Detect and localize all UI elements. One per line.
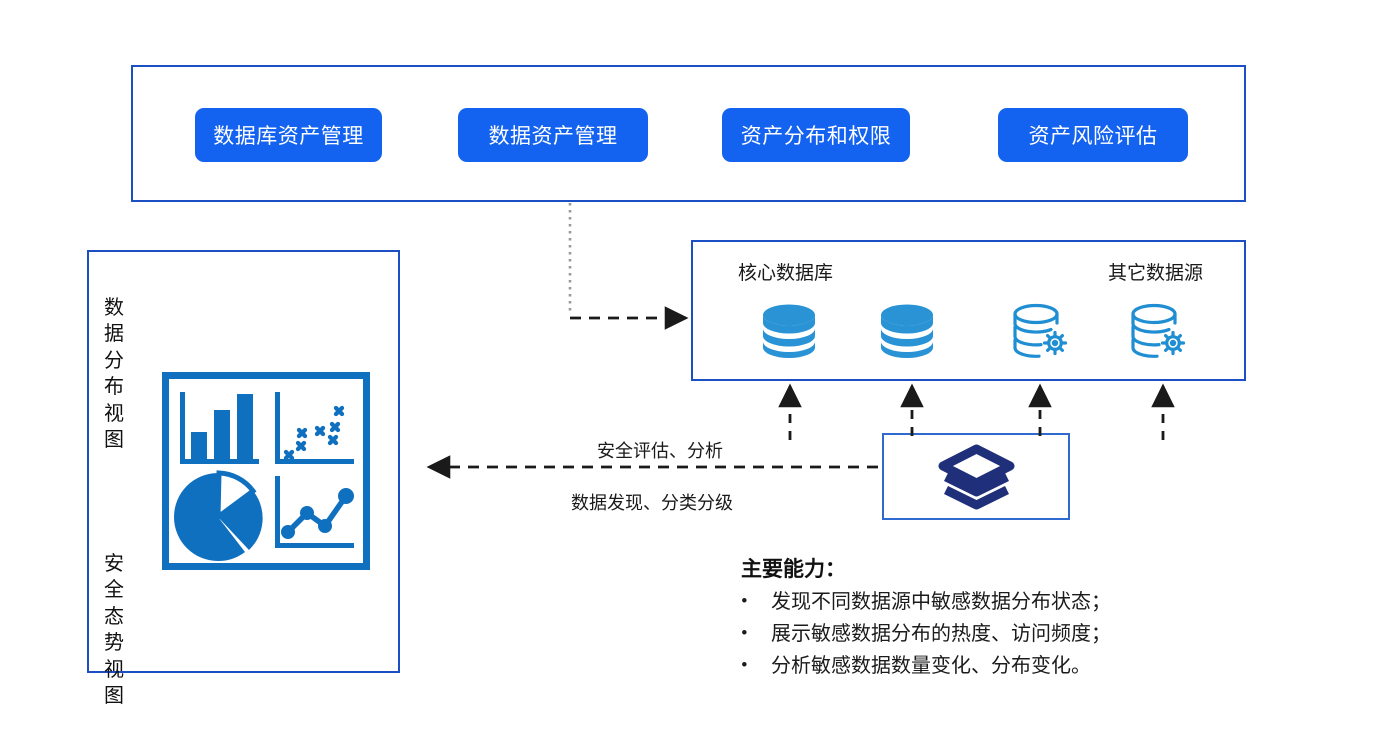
capabilities-title: 主要能力： [741,553,846,583]
datasource-label-core: 核心数据库 [738,258,833,285]
capability-text: 分析敏感数据数量变化、分布变化。 [771,656,1091,676]
module-button-label: 资产分布和权限 [741,120,892,150]
module-button-data-asset-management[interactable]: 数据资产管理 [458,108,648,162]
flow-label-security-assessment: 安全评估、分析 [597,437,723,463]
list-item: • 展示敏感数据分布的热度、访问频度； [741,624,1111,644]
module-button-database-asset-management[interactable]: 数据库资产管理 [195,108,382,162]
database-filled-icon [878,303,936,359]
bullet-icon: • [741,656,771,675]
module-button-asset-distribution-permission[interactable]: 资产分布和权限 [722,108,910,162]
view-label-security-posture: 安全态势视图 [101,551,127,709]
module-button-label: 数据资产管理 [489,120,618,150]
capabilities-list: • 发现不同数据源中敏感数据分布状态； • 展示敏感数据分布的热度、访问频度； … [741,592,1111,688]
layers-stack-icon [936,444,1017,512]
bullet-icon: • [741,624,771,643]
database-gear-icon [1010,302,1072,360]
module-button-asset-risk-assessment[interactable]: 资产风险评估 [998,108,1188,162]
list-item: • 分析敏感数据数量变化、分布变化。 [741,656,1111,676]
module-button-label: 数据库资产管理 [213,120,364,150]
capability-text: 展示敏感数据分布的热度、访问频度； [771,624,1111,644]
list-item: • 发现不同数据源中敏感数据分布状态； [741,592,1111,612]
module-button-label: 资产风险评估 [1029,120,1158,150]
flow-label-data-discovery: 数据发现、分类分级 [571,489,733,515]
bullet-icon: • [741,592,771,611]
database-filled-icon [760,303,818,359]
datasource-label-other: 其它数据源 [1108,258,1203,285]
database-gear-icon [1128,302,1190,360]
analytics-dashboard-icon [162,372,370,570]
capability-text: 发现不同数据源中敏感数据分布状态； [771,592,1111,612]
view-label-data-distribution: 数据分布视图 [101,295,127,453]
